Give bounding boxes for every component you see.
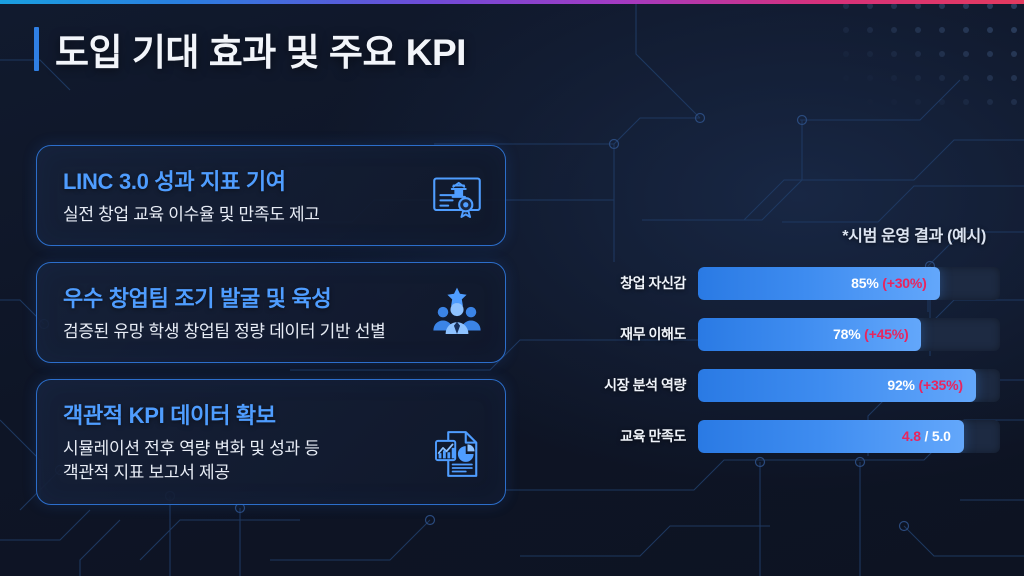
kpi-value: 4.8 / 5.0 <box>902 428 951 444</box>
benefit-card-kpi[interactable]: 객관적 KPI 데이터 확보 시뮬레이션 전후 역량 변화 및 성과 등 객관적… <box>36 379 506 504</box>
kpi-track: 85% (+30%) <box>698 267 1000 300</box>
card-subtitle: 실전 창업 교육 이수율 및 만족도 제고 <box>63 203 483 227</box>
report-chart-icon <box>429 426 485 482</box>
card-heading: LINC 3.0 성과 지표 기여 <box>63 164 483 196</box>
kpi-row[interactable]: 교육 만족도 4.8 / 5.0 <box>600 419 1000 453</box>
team-star-icon <box>429 285 485 341</box>
kpi-track: 92% (+35%) <box>698 369 1000 402</box>
kpi-label: 재무 이해도 <box>600 324 698 344</box>
kpi-value: 92% (+35%) <box>887 377 962 393</box>
kpi-fill: 4.8 / 5.0 <box>698 420 964 453</box>
title-text: 도입 기대 효과 및 주요 KPI <box>55 22 466 76</box>
kpi-row[interactable]: 창업 자신감 85% (+30%) <box>600 266 1000 300</box>
card-heading: 우수 창업팀 조기 발굴 및 육성 <box>63 281 483 313</box>
kpi-track: 78% (+45%) <box>698 318 1000 351</box>
card-subtitle: 검증된 유망 학생 창업팀 정량 데이터 기반 선별 <box>63 320 483 344</box>
benefit-card-team[interactable]: 우수 창업팀 조기 발굴 및 육성 검증된 유망 학생 창업팀 정량 데이터 기… <box>36 262 506 363</box>
benefit-card-linc[interactable]: LINC 3.0 성과 지표 기여 실전 창업 교육 이수율 및 만족도 제고 <box>36 145 506 246</box>
card-subtitle-line1: 시뮬레이션 전후 역량 변화 및 성과 등 <box>63 437 483 461</box>
kpi-value: 78% (+45%) <box>833 326 908 342</box>
benefit-card-list: LINC 3.0 성과 지표 기여 실전 창업 교육 이수율 및 만족도 제고 … <box>36 145 506 521</box>
kpi-note: *시범 운영 결과 (예시) <box>600 222 1000 246</box>
page-title: 도입 기대 효과 및 주요 KPI <box>34 22 466 76</box>
kpi-track: 4.8 / 5.0 <box>698 420 1000 453</box>
kpi-row[interactable]: 시장 분석 역량 92% (+35%) <box>600 368 1000 402</box>
kpi-row[interactable]: 재무 이해도 78% (+45%) <box>600 317 1000 351</box>
slide-canvas: 도입 기대 효과 및 주요 KPI LINC 3.0 성과 지표 기여 실전 창… <box>0 0 1024 576</box>
kpi-fill: 78% (+45%) <box>698 318 921 351</box>
kpi-label: 창업 자신감 <box>600 273 698 293</box>
kpi-fill: 85% (+30%) <box>698 267 940 300</box>
kpi-label: 시장 분석 역량 <box>600 375 698 395</box>
kpi-label: 교육 만족도 <box>600 426 698 446</box>
kpi-fill: 92% (+35%) <box>698 369 976 402</box>
card-heading: 객관적 KPI 데이터 확보 <box>63 398 483 430</box>
card-subtitle-line2: 객관적 지표 보고서 제공 <box>63 461 483 485</box>
top-gradient-bar <box>0 0 1024 4</box>
kpi-chart: *시범 운영 결과 (예시) 창업 자신감 85% (+30%) 재무 이해도 … <box>600 222 1000 470</box>
kpi-value: 85% (+30%) <box>851 275 926 291</box>
certificate-award-icon <box>429 168 485 224</box>
title-accent-bar <box>34 27 39 71</box>
